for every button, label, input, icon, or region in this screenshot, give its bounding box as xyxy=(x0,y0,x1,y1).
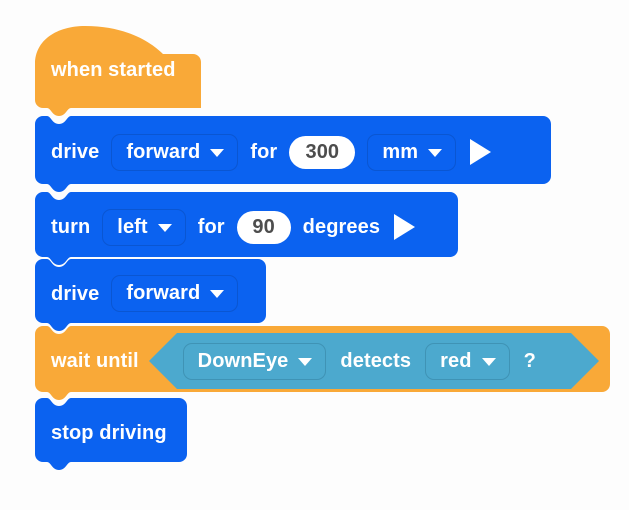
block-label-drive-2: drive xyxy=(51,284,99,304)
dropdown-drive-direction[interactable]: forward xyxy=(111,134,238,171)
dropdown-detect-color[interactable]: red xyxy=(425,343,509,380)
dropdown-turn-direction-value: left xyxy=(117,217,147,237)
block-label-turn: turn xyxy=(51,217,90,237)
block-when-started[interactable]: when started xyxy=(35,24,201,116)
block-stop-driving[interactable]: stop driving xyxy=(35,398,187,470)
label-question-mark: ? xyxy=(524,350,536,373)
dropdown-drive2-direction-value: forward xyxy=(126,283,200,303)
block-label-when-started: when started xyxy=(51,60,176,80)
label-for-turn: for xyxy=(198,217,225,237)
block-wait-until[interactable]: wait until DownEye detects red ? xyxy=(35,326,610,400)
boolean-downeye-detects-red[interactable]: DownEye detects red ? xyxy=(149,333,599,389)
chevron-down-icon xyxy=(482,358,496,366)
block-workspace[interactable]: when started drive forward for 300 mm xyxy=(0,0,629,510)
label-detects: detects xyxy=(340,351,411,371)
block-label-stop-driving: stop driving xyxy=(51,423,167,443)
play-icon[interactable] xyxy=(470,139,491,165)
input-turn-degrees[interactable]: 90 xyxy=(237,211,291,244)
block-label-drive: drive xyxy=(51,142,99,162)
dropdown-turn-direction[interactable]: left xyxy=(102,209,185,246)
play-icon[interactable] xyxy=(394,214,415,240)
label-degrees: degrees xyxy=(303,217,380,237)
chevron-down-icon xyxy=(298,358,312,366)
label-for-drive: for xyxy=(250,142,277,162)
dropdown-sensor-value: DownEye xyxy=(198,351,289,371)
chevron-down-icon xyxy=(158,224,172,232)
dropdown-sensor[interactable]: DownEye xyxy=(183,343,327,380)
chevron-down-icon xyxy=(210,149,224,157)
dropdown-drive2-direction[interactable]: forward xyxy=(111,275,238,312)
block-label-wait-until: wait until xyxy=(51,351,139,371)
block-turn-left-90-degrees[interactable]: turn left for 90 degrees xyxy=(35,192,458,265)
dropdown-detect-color-value: red xyxy=(440,351,471,371)
block-drive-forward-300mm[interactable]: drive forward for 300 mm xyxy=(35,116,551,192)
dropdown-drive-unit-value: mm xyxy=(382,142,418,162)
block-drive-forward[interactable]: drive forward xyxy=(35,259,266,331)
chevron-down-icon xyxy=(210,290,224,298)
input-drive-distance[interactable]: 300 xyxy=(289,136,355,169)
dropdown-drive-unit[interactable]: mm xyxy=(367,134,456,171)
chevron-down-icon xyxy=(428,149,442,157)
dropdown-drive-direction-value: forward xyxy=(126,142,200,162)
